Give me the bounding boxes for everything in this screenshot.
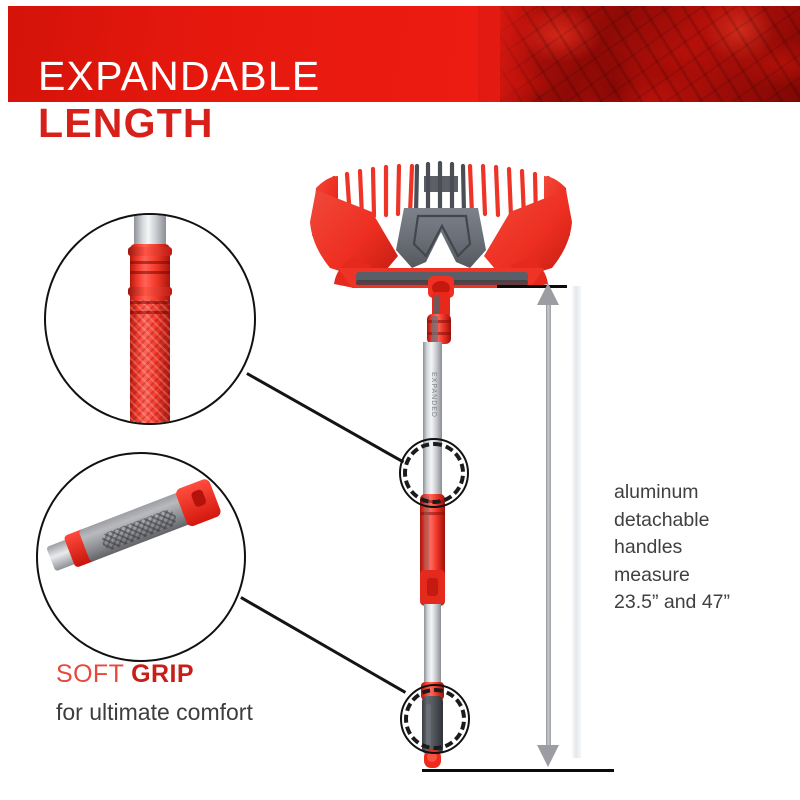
callout-top-ring-1 (130, 261, 170, 264)
target-ring-lower-outline (400, 684, 470, 754)
callout-circle-soft-grip (36, 452, 246, 662)
pole-lower-tube (424, 604, 441, 688)
callout-circle-expandable-lock (44, 213, 256, 425)
rake-tines-center (416, 163, 464, 214)
leader-line-lower (240, 596, 406, 693)
measurement-note-line: measure (614, 562, 794, 590)
measurement-note-line: aluminum (614, 479, 794, 507)
pole-mid-red-grip (420, 494, 445, 606)
dimension-tick-bottom (422, 769, 614, 772)
soft-grip-caption: SOFT GRIP (56, 662, 194, 687)
rake-plate-groove (414, 216, 470, 256)
rake-center-plate (396, 208, 486, 268)
rake-head (310, 163, 572, 318)
dimension-arrow-shaft (546, 292, 551, 756)
dimension-arrowhead-down (537, 745, 559, 767)
measurement-note-line: 23.5” and 47” (614, 589, 794, 617)
rake-hub (428, 276, 454, 298)
callout-bottom-grip-body (78, 491, 193, 562)
rake-wing-right-tip (544, 176, 570, 236)
rake-wing-right-body (484, 190, 572, 282)
banner-leaf-texture (500, 6, 800, 102)
measurement-note-line: handles (614, 534, 794, 562)
callout-top-ring-2 (130, 271, 170, 274)
rake-tines-right (470, 166, 548, 220)
callout-top-band-1 (128, 247, 172, 256)
callout-top-band-2 (128, 287, 172, 296)
callout-bottom-handle (56, 480, 221, 571)
pole-reflection (572, 286, 581, 758)
soft-grip-subcaption: for ultimate comfort (56, 697, 286, 728)
callout-top-aluminum-tube (134, 213, 166, 247)
caption-word-regular: SOFT (56, 660, 131, 688)
dimension-arrowhead-up (537, 283, 559, 305)
measurement-note: aluminum detachable handles measure 23.5… (614, 479, 794, 617)
svg-text:EXPANDED: EXPANDED (430, 372, 437, 418)
target-ring-upper-outline (399, 438, 469, 508)
callout-top-ring-3 (130, 301, 170, 304)
rake-wing-left-body (310, 190, 398, 282)
leader-line-upper (246, 372, 404, 463)
callout-top-ring-4 (130, 311, 170, 314)
page-title-line-1: EXPANDABLE (38, 56, 320, 97)
rake-crossbar (356, 272, 528, 282)
infographic-canvas: EXPANDABLE LENGTH (0, 0, 800, 800)
rake-tines-left (334, 166, 412, 220)
page-title-line-2: LENGTH (38, 103, 214, 144)
caption-word-bold: GRIP (131, 660, 194, 688)
rake-wing-left-tip (312, 176, 338, 236)
pole-top-collar (427, 314, 451, 344)
banner-gradient-blend (478, 6, 538, 102)
measurement-note-line: detachable (614, 507, 794, 535)
